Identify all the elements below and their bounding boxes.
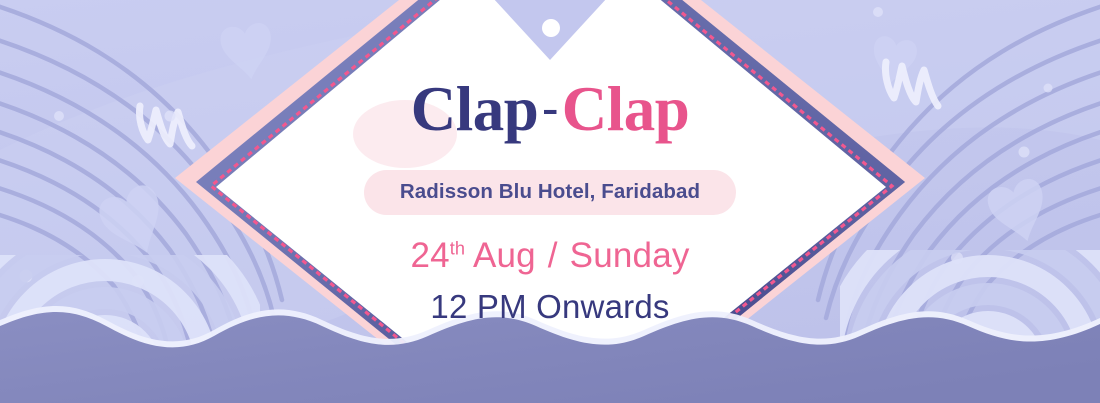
bottom-wave-overlay: [0, 0, 1100, 403]
event-banner: Clap - Clap Radisson Blu Hotel, Faridaba…: [0, 0, 1100, 403]
wave-band: [0, 312, 1100, 403]
